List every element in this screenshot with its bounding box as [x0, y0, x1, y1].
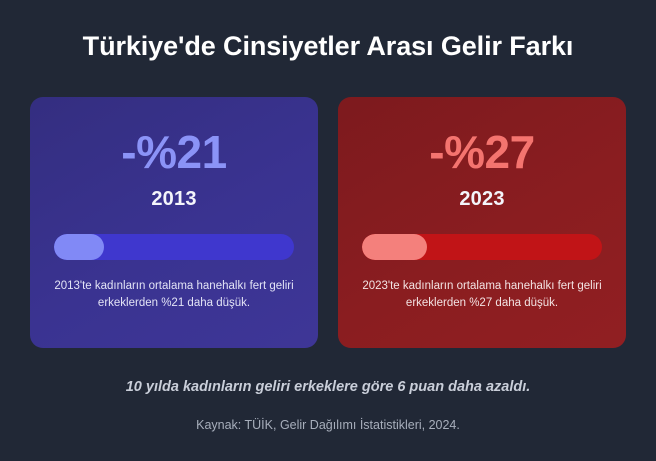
percent-value-2013: -%21 [121, 129, 226, 175]
card-description-2013: 2013'te kadınların ortalama hanehalkı fe… [48, 278, 300, 312]
stat-card-2013: -%21 2013 2013'te kadınların ortalama ha… [30, 97, 318, 348]
progress-bar-fill-2023 [362, 234, 427, 260]
year-label-2013: 2013 [151, 188, 196, 211]
year-label-2023: 2023 [459, 188, 504, 211]
progress-bar-track-2013 [54, 234, 294, 260]
card-description-2023: 2023'te kadınların ortalama hanehalkı fe… [356, 278, 608, 312]
stat-card-2023: -%27 2023 2023'te kadınların ortalama ha… [338, 97, 626, 348]
infographic-root: Türkiye'de Cinsiyetler Arası Gelir Farkı… [0, 0, 656, 461]
page-title: Türkiye'de Cinsiyetler Arası Gelir Farkı [0, 31, 656, 62]
footer-note: 10 yılda kadınların geliri erkeklere gör… [0, 379, 656, 395]
progress-bar-track-2023 [362, 234, 602, 260]
footer-source: Kaynak: TÜİK, Gelir Dağılımı İstatistikl… [0, 418, 656, 432]
progress-bar-fill-2013 [54, 234, 104, 260]
percent-value-2023: -%27 [429, 129, 534, 175]
stat-cards-row: -%21 2013 2013'te kadınların ortalama ha… [30, 97, 626, 348]
